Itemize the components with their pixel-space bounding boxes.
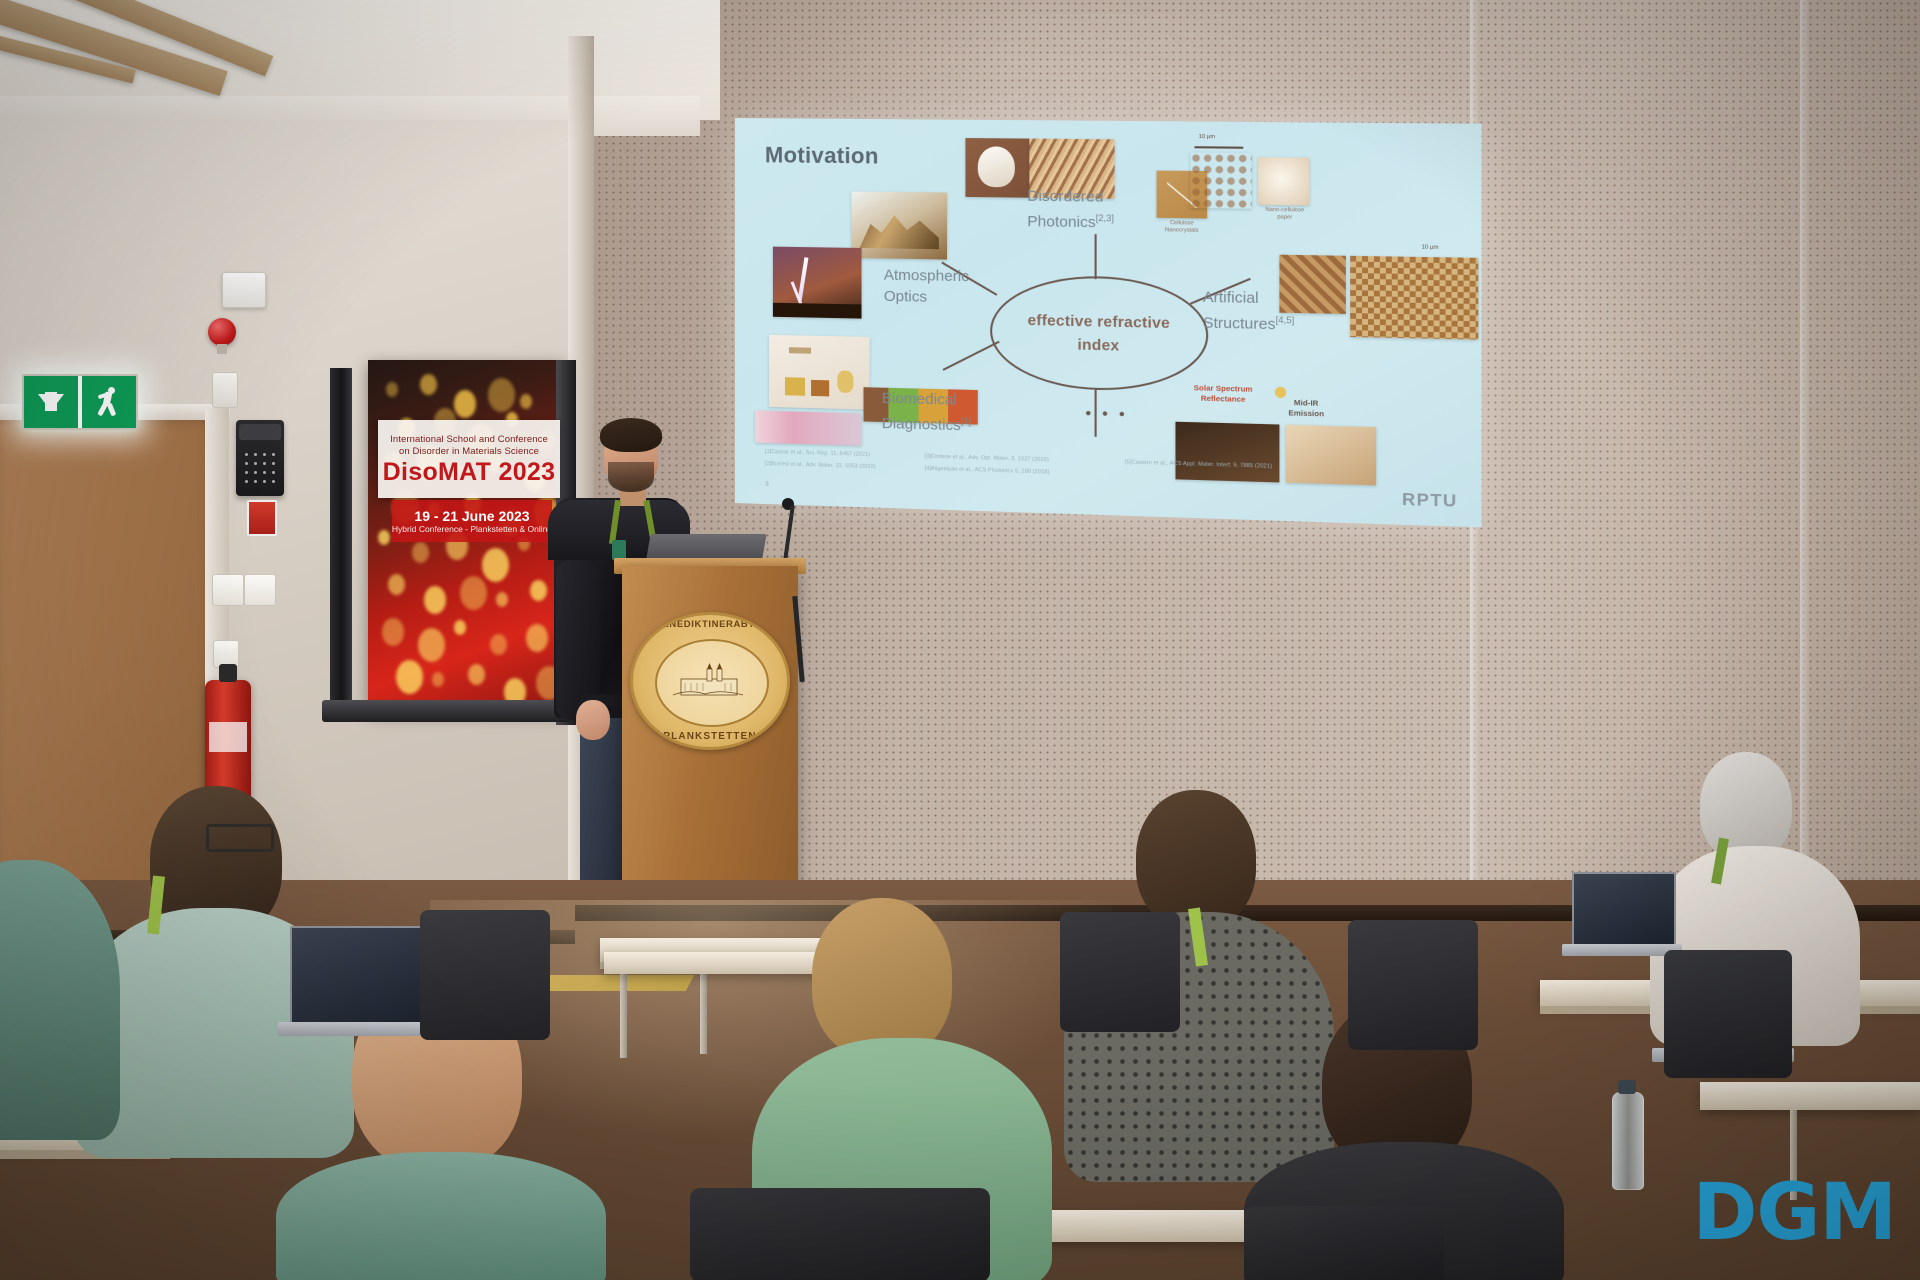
thumb-photonic-lattice: [1350, 256, 1478, 340]
emergency-exit-sign: [22, 374, 138, 430]
laptop-base: [278, 1022, 436, 1036]
eyeglasses-icon: [206, 824, 274, 852]
abbey-building-illustration: [671, 661, 749, 701]
thumb-emission-sample: [1175, 422, 1279, 483]
phone-receiver: [239, 424, 281, 440]
thumb-mountain-landscape: [851, 191, 947, 259]
seal-top-text: BENEDIKTINERABTEI: [633, 619, 787, 630]
running-man-icon: [97, 386, 121, 418]
spoke-lower-left: [943, 341, 1000, 371]
wall-sensor: [222, 272, 266, 308]
reference-4: [4]Aligeniyan et al., ACS Photonics 5, 1…: [925, 466, 1050, 476]
conference-badge: [612, 540, 626, 560]
banner-subtitle: Hybrid Conference - Plankstetten & Onlin…: [392, 524, 552, 535]
wall-telephone[interactable]: [236, 420, 284, 496]
scale-label-right: 10 µm: [1422, 244, 1439, 251]
node-label-artificial-structures: Artificial Structures[4,5]: [1203, 286, 1294, 335]
chair-back: [690, 1188, 990, 1280]
banner-line1: International School and Conference: [390, 434, 548, 446]
banner-base: [322, 700, 572, 722]
ellipsis-marker: • • •: [1085, 405, 1128, 425]
exit-arrow-panel: [24, 376, 78, 428]
label-solar-spectrum: Solar Spectrum Reflectance: [1182, 383, 1265, 406]
dgm-logo-watermark: DGM: [1693, 1174, 1896, 1252]
alarm-mount: [217, 344, 227, 354]
sun-icon: [1267, 379, 1295, 407]
phone-keypad-icon: [242, 450, 278, 488]
light-switch[interactable]: [212, 574, 244, 606]
slide-page-number: 3: [765, 481, 769, 488]
node-label-biomedical-diagnostics: Biomedical Diagnostics[1]: [882, 388, 971, 437]
thumb-nanocellulose-paper: [1258, 157, 1309, 205]
chair-back: [1348, 920, 1478, 1050]
slide-title: Motivation: [765, 142, 879, 169]
scale-label-top: 10 µm: [1199, 134, 1215, 140]
banner-title-card: International School and Conference on D…: [378, 420, 560, 498]
banner-line2: on Disorder in Materials Science: [399, 446, 539, 458]
presenter-hair: [600, 418, 662, 452]
table-leg: [700, 968, 707, 1054]
table-row-right: [1700, 1082, 1920, 1110]
thumb-histology-tissue: [755, 411, 862, 446]
rptu-logo: RPTU: [1402, 489, 1458, 512]
spoke-top: [1095, 234, 1097, 279]
chair-back: [1664, 950, 1792, 1078]
reference-1: [1]Cassar et al., Sci. Rep. 11, 6457 (20…: [765, 449, 870, 458]
thumb-device-photo: [1286, 425, 1376, 486]
fire-extinguisher: [205, 680, 251, 800]
audience-head: [812, 898, 952, 1058]
panel-seam: [1800, 0, 1810, 940]
caption-cellulose: Cellulose Nanocrystals: [1148, 220, 1215, 235]
thumb-beetle: [965, 138, 1029, 198]
audience-shoulders: [276, 1152, 606, 1280]
thumb-lightning-storm: [773, 247, 862, 319]
fire-alarm-bell: [208, 318, 236, 346]
ellipse-line1: effective refractive: [1027, 311, 1170, 331]
laptop-screen: [1572, 872, 1676, 948]
reference-2: [2]Burresi et al., Adv. Mater. 22, 5053 …: [765, 461, 876, 470]
abbey-seal: BENEDIKTINERABTEI PLANKSTETTEN: [630, 612, 790, 750]
table-leg: [620, 968, 627, 1058]
fire-alarm-call-point[interactable]: [247, 500, 277, 536]
chair-back: [420, 910, 550, 1040]
chair-back: [1244, 1206, 1444, 1280]
thumb-optics-setup-diagram: [769, 335, 870, 410]
conference-room-photo: International School and Conference on D…: [0, 0, 1920, 1280]
scale-bar-line: [1194, 146, 1243, 148]
light-switch[interactable]: [244, 574, 276, 606]
audience-head: [1700, 752, 1792, 860]
reference-3: [3]Cortese et al., Adv. Opt. Mater. 3, 1…: [925, 454, 1049, 464]
banner-date-block: 19 - 21 June 2023 Hybrid Conference - Pl…: [392, 500, 552, 542]
thumb-nanocellulose-sem: [1190, 152, 1251, 208]
caption-nanocellulose: Nano-cellulose paper: [1254, 207, 1316, 222]
projected-slide: Motivation Cellulose Nanocrystals 10 µm …: [735, 118, 1482, 527]
banner-conference-title: DisoMAT 2023: [383, 459, 556, 486]
ellipse-line2: index: [1077, 336, 1119, 354]
node-label-atmospheric-optics: Atmospheric Optics: [884, 265, 969, 309]
exit-runner-panel: [82, 376, 136, 428]
presenter-beard: [608, 462, 654, 492]
bottle-cap: [1618, 1080, 1636, 1094]
arrow-down-icon: [38, 394, 64, 411]
node-label-disordered-photonics: Disordered Photonics[2,3]: [1027, 185, 1114, 233]
chair-back: [1060, 912, 1180, 1032]
laptop-screen: [290, 926, 424, 1026]
seal-bottom-text: PLANKSTETTEN: [633, 731, 787, 742]
effective-refractive-index-node: effective refractive index: [990, 274, 1208, 392]
water-bottle: [1612, 1092, 1644, 1190]
banner-dates: 19 - 21 June 2023: [414, 508, 529, 524]
presenter-hand: [576, 700, 610, 740]
wall-junction-box: [212, 372, 238, 408]
banner-pole-left: [330, 368, 352, 713]
table-row-mid-left: [604, 952, 844, 974]
